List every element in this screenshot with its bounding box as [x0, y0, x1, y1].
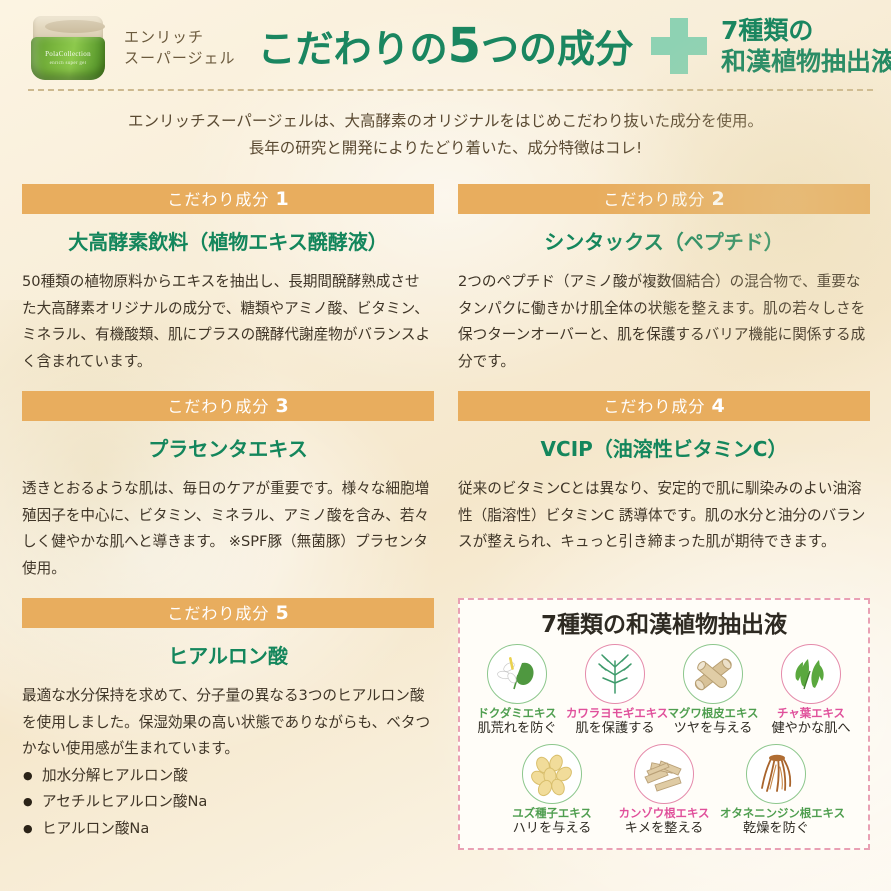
ingredient-body-1: 50種類の植物原料からエキスを抽出し、長期間醗酵熟成させた大高酵素オリジナルの成…: [22, 269, 434, 375]
ingredient-band-number-5: 5: [275, 602, 288, 624]
herb-name: カンゾウ根エキス: [608, 806, 720, 820]
product-ingredients-page: PolaCollection enrich super gel エンリッチ スー…: [0, 0, 891, 891]
ingredient-title-1: 大高酵素飲料（植物エキス醗酵液）: [22, 229, 434, 255]
page-title-post: つの成分: [481, 27, 633, 71]
herb-desc: 肌荒れを防ぐ: [468, 720, 566, 738]
ingredient-band-label-3: こだわり成分: [167, 397, 269, 416]
ingredient-band-5: こだわり成分 5: [22, 598, 434, 628]
ingredient-card-3: こだわり成分 3 プラセンタエキス 透きとおるような肌は、毎日のケアが重要です。…: [22, 391, 434, 582]
herb-name: ユズ種子エキス: [496, 806, 608, 820]
ingredient-band-number-2: 2: [711, 188, 724, 210]
herbal-extract-title: 7種類の和漢植物抽出液: [468, 608, 860, 642]
plus-icon: [651, 18, 707, 74]
product-jar-image: PolaCollection enrich super gel: [26, 10, 110, 84]
jar-label-sub: enrich super gel: [31, 59, 105, 68]
ingredient-card-1: こだわり成分 1 大高酵素飲料（植物エキス醗酵液） 50種類の植物原料からエキス…: [22, 184, 434, 375]
ingredient-band-label-1: こだわり成分: [167, 190, 269, 209]
herb-item-maguwa: マグワ根皮エキス ツヤを与える: [664, 644, 762, 738]
herb-name: マグワ根皮エキス: [664, 706, 762, 720]
ingredient-card-2: こだわり成分 2 シンタックス（ペプチド） 2つのペプチド（アミノ酸が複数個結合…: [458, 184, 870, 375]
intro-line-2: 長年の研究と開発によりたどり着いた、成分特徴はコレ!: [70, 135, 821, 162]
brand-name: エンリッチ スーパージェル: [124, 27, 236, 69]
ingredient-band-2: こだわり成分 2: [458, 184, 870, 214]
ingredient-body-4: 従来のビタミンCとは異なり、安定的で肌に馴染みのよい油溶性（脂溶性）ビタミンC …: [458, 476, 870, 556]
herb-desc: 肌を保護する: [566, 720, 664, 738]
herbal-extract-row-2: ユズ種子エキス ハリを与える: [468, 744, 860, 838]
artemisia-sprig-icon: [585, 644, 645, 704]
herb-name: チャ葉エキス: [762, 706, 860, 720]
licorice-root-icon: [634, 744, 694, 804]
herbal-extract-box: 7種類の和漢植物抽出液: [458, 598, 870, 850]
brand-name-line2: スーパージェル: [124, 48, 236, 69]
herb-item-otane: オタネニンジン根エキス 乾燥を防ぐ: [720, 744, 832, 838]
herbal-extract-panel: 7種類の和漢植物抽出液: [458, 598, 870, 850]
page-title-number: 5: [448, 18, 481, 74]
herb-item-kawara: カワラヨモギエキス 肌を保護する: [566, 644, 664, 738]
ingredients-grid: こだわり成分 1 大高酵素飲料（植物エキス醗酵液） 50種類の植物原料からエキス…: [0, 184, 891, 850]
ingredient-title-4: VCIP（油溶性ビタミンC）: [458, 436, 870, 462]
page-title-pre: こだわりの: [258, 27, 448, 71]
herb-desc: ツヤを与える: [664, 720, 762, 738]
ingredient-band-label-5: こだわり成分: [167, 604, 269, 623]
header-subtitle: 7種類の 和漢植物抽出液: [721, 15, 891, 77]
jar-body: PolaCollection enrich super gel: [31, 37, 105, 80]
intro-paragraph: エンリッチスーパージェルは、大高酵素のオリジナルをはじめこだわり抜いた成分を使用…: [0, 108, 891, 162]
header-subtitle-line1: 7種類の: [721, 15, 891, 46]
herb-item-doku: ドクダミエキス 肌荒れを防ぐ: [468, 644, 566, 738]
herb-desc: 乾燥を防ぐ: [720, 820, 832, 838]
page-title: こだわりの5つの成分: [258, 18, 633, 74]
ingredient-bullet-list-5: 加水分解ヒアルロン酸 アセチルヒアルロン酸Na ヒアルロン酸Na: [22, 763, 434, 843]
ingredient-band-3: こだわり成分 3: [22, 391, 434, 421]
jar-lid-top: [45, 20, 105, 33]
herb-item-kanzou: カンゾウ根エキス キメを整える: [608, 744, 720, 838]
herb-name: カワラヨモギエキス: [566, 706, 664, 720]
mulberry-root-icon: [683, 644, 743, 704]
herb-item-yuzu: ユズ種子エキス ハリを与える: [496, 744, 608, 838]
ingredient-band-label-2: こだわり成分: [603, 190, 705, 209]
ingredient-card-4: こだわり成分 4 VCIP（油溶性ビタミンC） 従来のビタミンCとは異なり、安定…: [458, 391, 870, 582]
ingredient-title-2: シンタックス（ペプチド）: [458, 229, 870, 255]
ingredient-title-3: プラセンタエキス: [22, 436, 434, 462]
ingredient-card-5: こだわり成分 5 ヒアルロン酸 最適な水分保持を求めて、分子量の異なる3つのヒア…: [22, 598, 434, 850]
ginseng-root-icon: [746, 744, 806, 804]
herb-name: ドクダミエキス: [468, 706, 566, 720]
ingredient-band-1: こだわり成分 1: [22, 184, 434, 214]
ingredient-band-number-4: 4: [711, 395, 724, 417]
ingredient-body-3: 透きとおるような肌は、毎日のケアが重要です。様々な細胞増殖因子を中心に、ビタミン…: [22, 476, 434, 582]
ingredient-band-label-4: こだわり成分: [603, 397, 705, 416]
intro-line-1: エンリッチスーパージェルは、大高酵素のオリジナルをはじめこだわり抜いた成分を使用…: [70, 108, 821, 135]
ingredient-body-5: 最適な水分保持を求めて、分子量の異なる3つのヒアルロン酸を使用しました。保湿効果…: [22, 683, 434, 763]
header-subtitle-line2: 和漢植物抽出液: [721, 46, 891, 77]
ingredient-body-2: 2つのペプチド（アミノ酸が複数個結合）の混合物で、重要なタンパクに働きかけ肌全体…: [458, 269, 870, 375]
herb-desc: ハリを与える: [496, 820, 608, 838]
ingredient-title-5: ヒアルロン酸: [22, 643, 434, 669]
herb-name: オタネニンジン根エキス: [720, 806, 832, 820]
list-item: アセチルヒアルロン酸Na: [22, 789, 434, 816]
jar-label: PolaCollection enrich super gel: [31, 50, 105, 68]
yuzu-seed-icon: [522, 744, 582, 804]
herb-desc: キメを整える: [608, 820, 720, 838]
herbal-extract-row-1: ドクダミエキス 肌荒れを防ぐ: [468, 644, 860, 738]
page-header: PolaCollection enrich super gel エンリッチ スー…: [0, 0, 891, 92]
herb-desc: 健やかな肌へ: [762, 720, 860, 738]
herb-item-cha: チャ葉エキス 健やかな肌へ: [762, 644, 860, 738]
tea-leaf-icon: [781, 644, 841, 704]
houttuynia-flower-icon: [487, 644, 547, 704]
ingredient-band-number-1: 1: [275, 188, 288, 210]
ingredient-band-number-3: 3: [275, 395, 288, 417]
jar-label-brand: PolaCollection: [45, 50, 91, 58]
ingredient-band-4: こだわり成分 4: [458, 391, 870, 421]
brand-name-line1: エンリッチ: [124, 27, 236, 48]
list-item: ヒアルロン酸Na: [22, 816, 434, 843]
header-divider: [28, 89, 873, 91]
list-item: 加水分解ヒアルロン酸: [22, 763, 434, 790]
